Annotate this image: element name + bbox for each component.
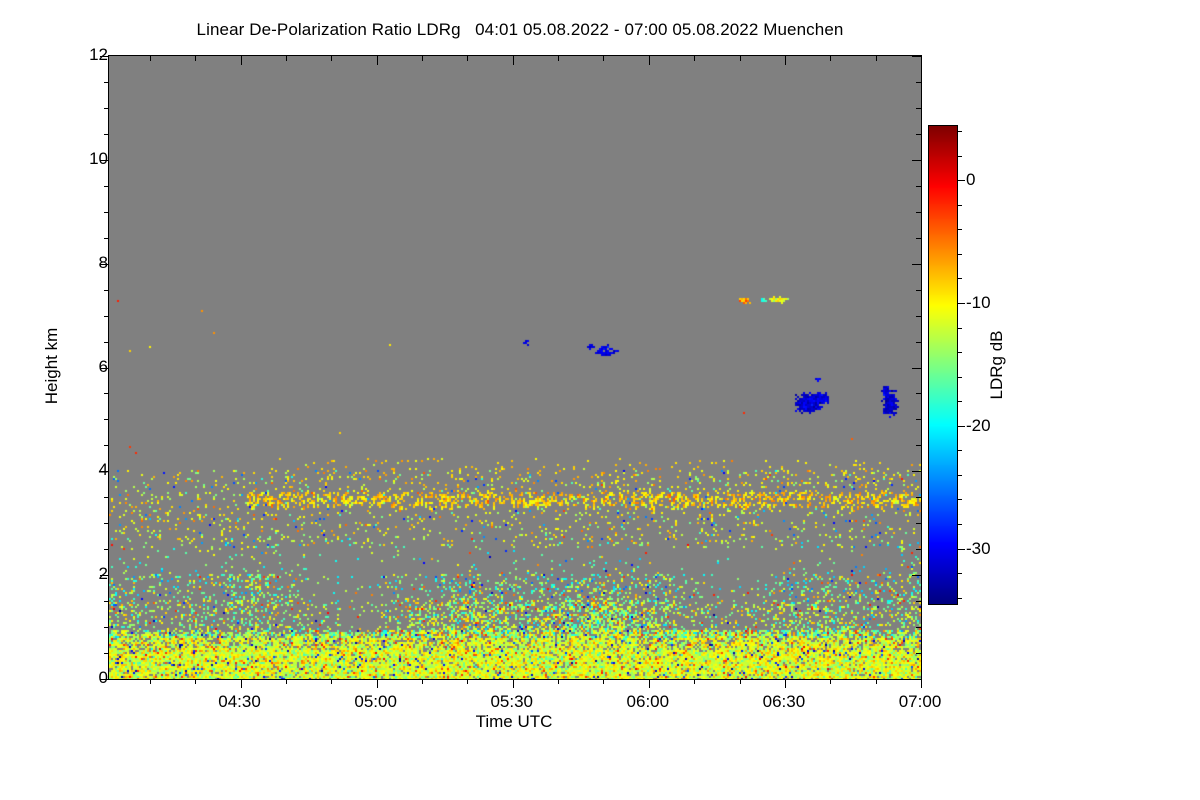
colorbar-tick	[958, 401, 962, 402]
x-tick	[467, 56, 468, 61]
y-tick	[912, 679, 921, 680]
colorbar-tick	[958, 205, 962, 206]
y-tick	[104, 342, 109, 343]
y-tick	[916, 445, 921, 446]
x-tick	[603, 679, 604, 684]
y-tick	[916, 497, 921, 498]
x-tick	[558, 56, 559, 61]
colorbar-tick	[958, 426, 965, 427]
y-tick-label: 4	[0, 460, 108, 480]
colorbar-gradient[interactable]	[928, 125, 958, 605]
y-tick	[916, 316, 921, 317]
y-tick	[104, 653, 109, 654]
colorbar-tick	[958, 131, 962, 132]
colorbar-tick	[958, 352, 962, 353]
x-axis-title: Time UTC	[476, 712, 553, 732]
ldrg-figure: Linear De-Polarization Ratio LDRg 04:01 …	[0, 0, 1200, 800]
colorbar-tick	[958, 303, 965, 304]
colorbar-tick	[958, 229, 962, 230]
y-tick	[912, 160, 921, 161]
y-tick	[104, 497, 109, 498]
y-tick-label: 0	[0, 668, 108, 688]
y-tick	[104, 212, 109, 213]
y-tick	[912, 471, 921, 472]
y-tick	[104, 134, 109, 135]
x-tick	[876, 56, 877, 61]
x-tick	[694, 56, 695, 61]
x-tick	[467, 679, 468, 684]
y-axis-title: Height km	[42, 328, 62, 405]
y-tick	[916, 108, 921, 109]
y-tick	[916, 549, 921, 550]
colorbar-tick	[958, 278, 962, 279]
x-tick	[241, 679, 242, 688]
colorbar-tick	[958, 499, 962, 500]
x-tick-label: 04:30	[218, 692, 261, 712]
colorbar-tick	[958, 180, 965, 181]
x-tick	[694, 679, 695, 684]
colorbar-tick-label: -30	[966, 539, 991, 559]
x-tick	[649, 679, 650, 688]
x-tick	[422, 679, 423, 684]
x-tick	[195, 56, 196, 61]
x-tick	[785, 56, 786, 65]
y-tick	[104, 238, 109, 239]
x-tick	[740, 56, 741, 61]
y-tick	[916, 186, 921, 187]
x-tick	[921, 679, 922, 688]
y-tick	[104, 186, 109, 187]
x-tick	[603, 56, 604, 61]
colorbar-tick	[958, 475, 962, 476]
y-tick	[912, 368, 921, 369]
y-tick	[916, 342, 921, 343]
colorbar-tick	[958, 377, 962, 378]
y-tick	[916, 290, 921, 291]
y-tick	[104, 108, 109, 109]
y-tick	[104, 393, 109, 394]
colorbar-tick	[958, 328, 962, 329]
page-title: Linear De-Polarization Ratio LDRg 04:01 …	[0, 20, 1040, 40]
x-tick	[513, 679, 514, 688]
y-tick	[916, 523, 921, 524]
x-tick	[513, 56, 514, 65]
colorbar-tick	[958, 450, 962, 451]
y-tick	[104, 549, 109, 550]
y-tick	[912, 575, 921, 576]
y-tick	[104, 627, 109, 628]
y-tick	[104, 290, 109, 291]
y-tick	[104, 316, 109, 317]
colorbar-tick-label: 0	[966, 170, 975, 190]
colorbar-title: LDRg dB	[987, 331, 1007, 400]
x-tick	[422, 56, 423, 61]
y-tick	[916, 419, 921, 420]
y-tick	[916, 238, 921, 239]
y-tick	[916, 82, 921, 83]
colorbar-tick-label: -10	[966, 293, 991, 313]
x-tick	[195, 679, 196, 684]
colorbar[interactable]	[928, 125, 958, 605]
y-tick-label: 10	[0, 149, 108, 169]
colorbar-tick	[958, 254, 962, 255]
colorbar-tick	[958, 573, 962, 574]
x-tick	[286, 679, 287, 684]
colorbar-tick	[958, 598, 962, 599]
x-tick	[286, 56, 287, 61]
x-tick	[830, 679, 831, 684]
y-tick-label: 12	[0, 45, 108, 65]
x-tick	[150, 679, 151, 684]
y-tick	[912, 56, 921, 57]
x-tick-label: 07:00	[899, 692, 942, 712]
x-tick	[558, 679, 559, 684]
colorbar-tick-label: -20	[966, 416, 991, 436]
x-tick-label: 06:00	[627, 692, 670, 712]
colorbar-tick	[958, 524, 962, 525]
x-tick	[649, 56, 650, 65]
colorbar-tick	[958, 156, 962, 157]
x-tick-label: 05:00	[354, 692, 397, 712]
y-tick	[916, 212, 921, 213]
x-tick	[241, 56, 242, 65]
x-tick	[331, 56, 332, 61]
y-tick	[104, 445, 109, 446]
y-tick	[916, 393, 921, 394]
y-tick	[104, 82, 109, 83]
y-tick	[912, 264, 921, 265]
y-tick	[916, 627, 921, 628]
x-tick-label: 05:30	[490, 692, 533, 712]
x-tick	[785, 679, 786, 688]
plot-area[interactable]	[108, 55, 922, 680]
y-tick-label: 8	[0, 253, 108, 273]
x-tick	[377, 679, 378, 688]
y-tick	[104, 419, 109, 420]
colorbar-tick	[958, 549, 965, 550]
y-tick	[104, 523, 109, 524]
x-tick	[876, 679, 877, 684]
y-tick-label: 2	[0, 564, 108, 584]
heatmap-canvas[interactable]	[109, 56, 921, 679]
x-tick	[830, 56, 831, 61]
x-tick	[740, 679, 741, 684]
x-tick	[331, 679, 332, 684]
x-tick	[377, 56, 378, 65]
y-tick	[916, 601, 921, 602]
x-tick	[150, 56, 151, 61]
y-tick	[916, 134, 921, 135]
x-tick-label: 06:30	[763, 692, 806, 712]
y-tick	[916, 653, 921, 654]
x-tick	[921, 56, 922, 65]
y-tick	[104, 601, 109, 602]
